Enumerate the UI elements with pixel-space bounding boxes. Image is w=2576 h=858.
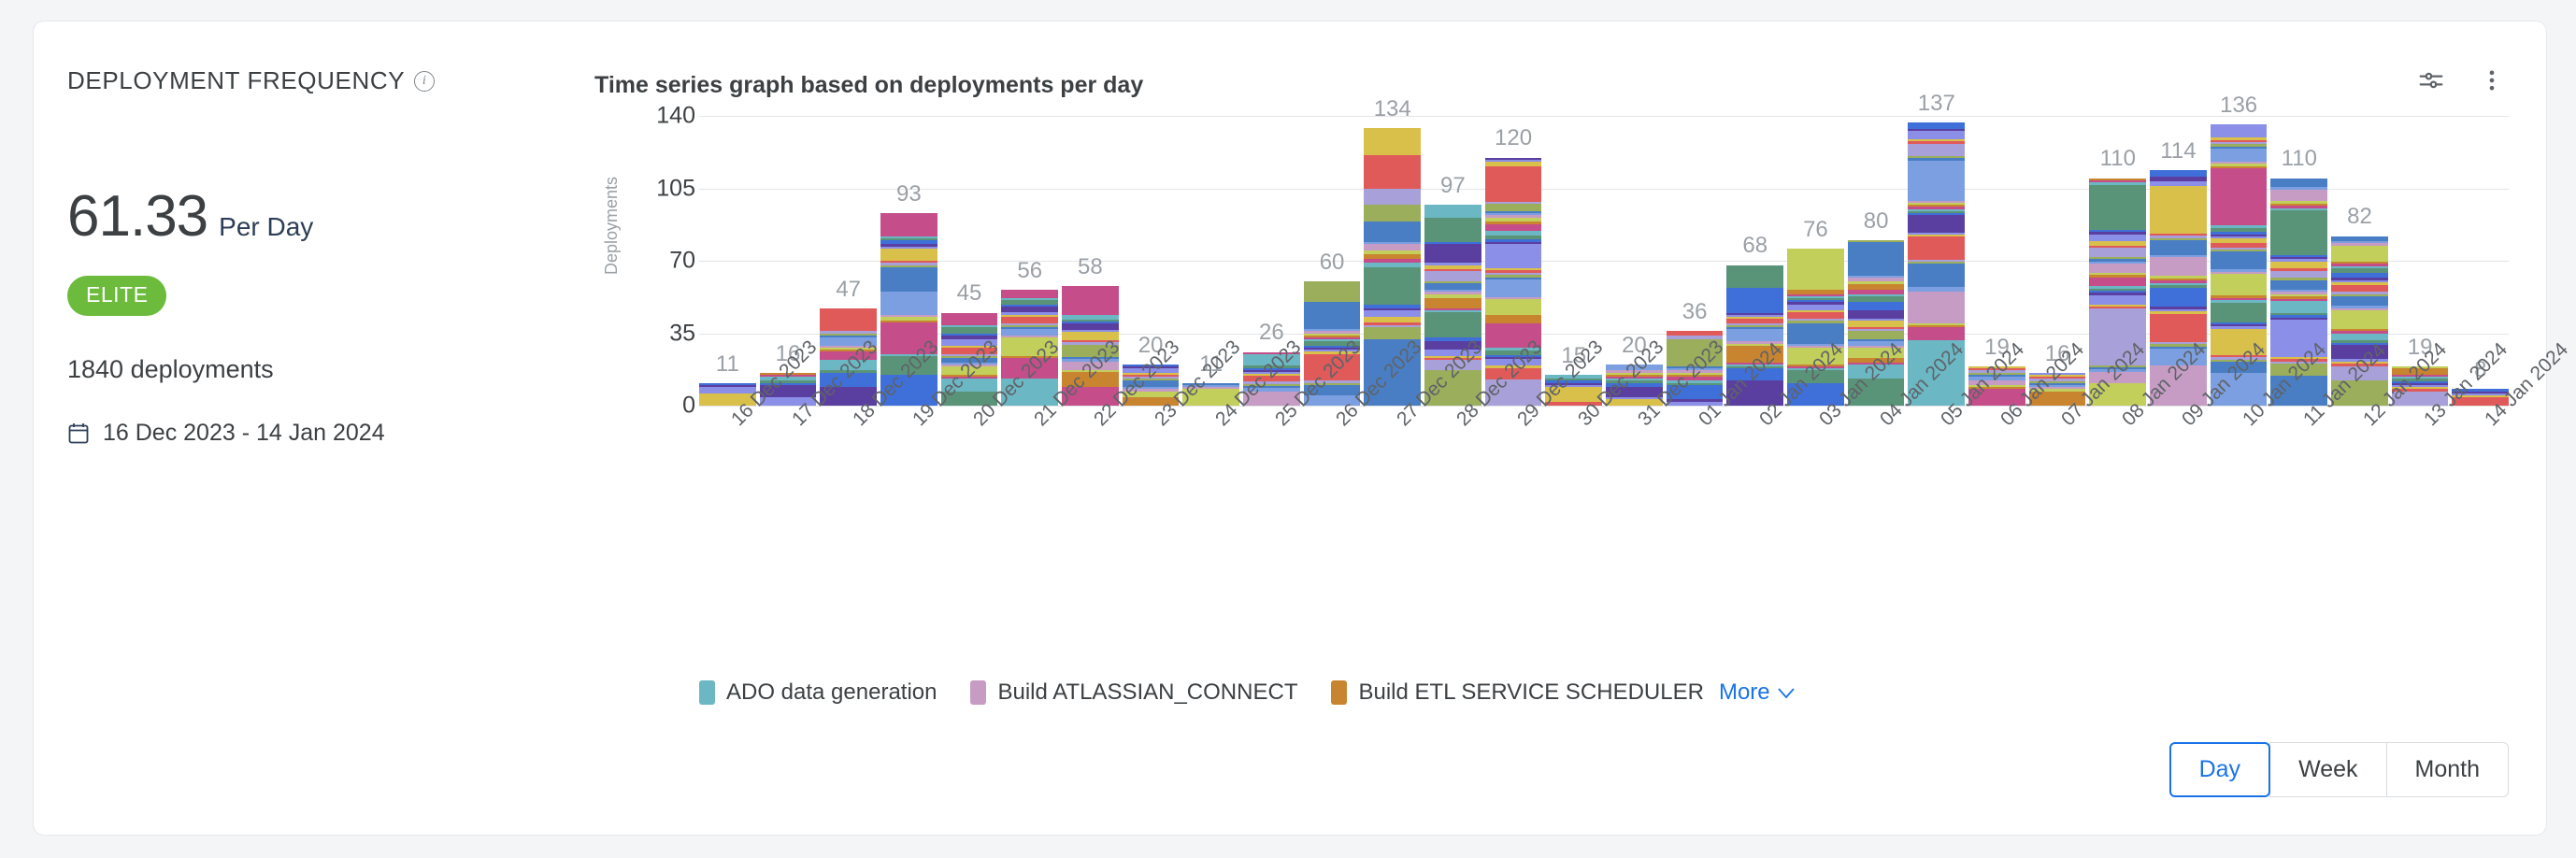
legend-more-label: More	[1719, 679, 1770, 706]
bar-segment	[2270, 301, 2327, 312]
bar-segment	[2150, 170, 2207, 178]
bar-segment	[1908, 327, 1965, 340]
legend-label: ADO data generation	[726, 679, 937, 706]
bar-segment	[1364, 128, 1421, 155]
metric-row: 61.33 Per Day	[67, 183, 594, 250]
bar-segment	[1001, 329, 1058, 336]
bar-value-label: 11	[699, 351, 756, 378]
x-axis-tick: 01 Jan 2024	[1667, 408, 1724, 548]
x-axis-tick: 12 Jan 2024	[2331, 408, 2388, 548]
bar-segment	[1485, 279, 1542, 297]
bar-segment	[2211, 168, 2268, 225]
bar-value-label: 68	[1726, 233, 1783, 259]
bar-segment	[1001, 290, 1058, 298]
bar-segment	[1364, 244, 1421, 250]
bar-segment	[2150, 240, 2207, 254]
bar-segment	[1485, 166, 1542, 202]
bar-segment	[880, 213, 937, 236]
bar-segment	[1364, 205, 1421, 222]
bar-value-label: 134	[1364, 96, 1421, 122]
metric-unit: Per Day	[219, 212, 313, 242]
bar-value-label: 114	[2150, 138, 2207, 164]
calendar-icon	[67, 422, 90, 445]
legend-label: Build ETL SERVICE SCHEDULER	[1358, 679, 1703, 706]
bar-segment	[699, 387, 756, 393]
deployment-frequency-card: DEPLOYMENT FREQUENCY i 61.33 Per Day ELI…	[33, 21, 2547, 836]
chart-panel: Time series graph based on deployments p…	[594, 21, 2546, 835]
bar-segment	[1485, 244, 1542, 268]
bar-value-label: 93	[880, 181, 937, 207]
bar-segment	[2089, 185, 2146, 230]
legend-item[interactable]: ADO data generation	[699, 679, 937, 706]
status-badge: ELITE	[67, 276, 166, 316]
chart-legend: ADO data generationBuild ATLASSIAN_CONNE…	[699, 679, 1796, 706]
bar-segment	[1424, 312, 1481, 337]
panel-title-text: DEPLOYMENT FREQUENCY	[67, 66, 405, 95]
bar-segment	[1485, 299, 1542, 315]
legend-swatch	[699, 680, 715, 705]
kebab-menu-icon[interactable]	[2479, 66, 2505, 99]
bar-segment	[1726, 288, 1783, 313]
bar-segment	[880, 249, 937, 261]
bar-segment	[1848, 302, 1905, 310]
bar-segment	[2150, 288, 2207, 307]
legend-swatch	[970, 680, 986, 705]
bar-segment	[1001, 307, 1058, 313]
bar-segment	[2211, 303, 2268, 322]
bar-segment	[2211, 124, 2268, 137]
x-axis-tick: 10 Jan 2024	[2211, 408, 2268, 548]
x-axis-tick: 29 Dec 2023	[1485, 408, 1542, 548]
x-axis-tick: 28 Dec 2023	[1424, 408, 1481, 548]
bar-segment	[2331, 246, 2388, 262]
bar-value-label: 110	[2270, 146, 2327, 172]
bar-value-label: 110	[2089, 146, 2146, 172]
bar-segment	[941, 313, 998, 325]
bar-segment	[2089, 278, 2146, 287]
bar-value-label: 60	[1304, 250, 1361, 276]
granularity-option-month[interactable]: Month	[2386, 742, 2509, 797]
bar-segment	[1001, 317, 1058, 323]
bar-segment	[2270, 210, 2327, 254]
bar-segment	[1908, 161, 1965, 201]
bar-segment	[2089, 248, 2146, 257]
info-icon[interactable]: i	[414, 71, 435, 92]
bar-segment	[820, 308, 877, 331]
bar-segment	[880, 267, 937, 293]
bar-segment	[1787, 323, 1844, 344]
header-icon-group	[2417, 66, 2509, 99]
bar-segment	[1485, 204, 1542, 210]
bar-segment	[1062, 286, 1119, 316]
bar-segment	[1908, 264, 1965, 287]
legend-item[interactable]: Build ATLASSIAN_CONNECT	[970, 679, 1297, 706]
legend-label: Build ATLASSIAN_CONNECT	[997, 679, 1297, 706]
bar-segment	[2089, 295, 2146, 305]
summary-panel: DEPLOYMENT FREQUENCY i 61.33 Per Day ELI…	[34, 21, 594, 835]
y-axis-tick: 70	[669, 248, 695, 275]
bar-segment	[1908, 131, 1965, 139]
date-range-text: 16 Dec 2023 - 14 Jan 2024	[103, 420, 385, 447]
bar-value-label: 120	[1485, 125, 1542, 151]
bar-column[interactable]: 11	[699, 116, 756, 406]
bar-segment	[2331, 296, 2388, 306]
bar-segment	[2150, 257, 2207, 276]
bar-segment	[1908, 215, 1965, 232]
settings-sliders-icon[interactable]	[2417, 66, 2445, 99]
x-axis-tick: 21 Dec 2023	[1001, 408, 1058, 548]
bar-segment	[1848, 284, 1905, 291]
x-axis-tick: 19 Dec 2023	[880, 408, 937, 548]
x-axis-tick: 09 Jan 2024	[2150, 408, 2207, 548]
bar-segment	[1787, 249, 1844, 290]
bar-segment	[1424, 205, 1481, 217]
y-axis-tick: 105	[656, 175, 695, 202]
y-axis-tick: 0	[682, 393, 695, 420]
bar-value-label: 137	[1908, 91, 1965, 117]
legend-item[interactable]: Build ETL SERVICE SCHEDULER	[1331, 679, 1703, 706]
x-axis-tick: 25 Dec 2023	[1243, 408, 1300, 548]
y-axis-ticks: 03570105140	[613, 116, 695, 406]
bar-value-label: 97	[1424, 173, 1481, 199]
x-axis-tick: 06 Jan 2024	[1968, 408, 2025, 548]
x-axis-tick: 05 Jan 2024	[1908, 408, 1965, 548]
bar-value-label: 80	[1848, 208, 1905, 235]
y-axis-tick: 140	[656, 103, 695, 130]
chart-title: Time series graph based on deployments p…	[594, 66, 1143, 99]
bar-segment	[1848, 331, 1905, 339]
x-axis-tick: 04 Jan 2024	[1848, 408, 1905, 548]
bar-segment	[941, 327, 998, 334]
bar-segment	[1304, 281, 1361, 302]
bar-segment	[1424, 283, 1481, 290]
bar-segment	[2211, 274, 2268, 296]
bar-segment	[1364, 317, 1421, 323]
bar-segment	[1424, 298, 1481, 308]
metric-value: 61.33	[67, 183, 208, 250]
date-range-row: 16 Dec 2023 - 14 Jan 2024	[67, 420, 594, 447]
bar-segment	[2331, 310, 2388, 329]
bar-segment	[1848, 242, 1905, 275]
bar-segment	[1485, 224, 1542, 231]
x-axis-tick: 24 Dec 2023	[1182, 408, 1239, 548]
x-axis-tick: 27 Dec 2023	[1364, 408, 1421, 548]
bar-segment	[2150, 186, 2207, 233]
x-axis-tick: 18 Dec 2023	[820, 408, 877, 548]
bar-segment	[1485, 315, 1542, 323]
bar-segment	[1364, 189, 1421, 206]
panel-title: DEPLOYMENT FREQUENCY i	[67, 66, 594, 95]
deployments-count: 1840 deployments	[67, 355, 594, 384]
bar-segment	[1848, 321, 1905, 327]
x-axis-tick: 16 Dec 2023	[699, 408, 756, 548]
bar-segment	[1908, 236, 1965, 260]
granularity-toggle: DayWeekMonth	[2169, 742, 2509, 797]
x-axis-tick: 03 Jan 2024	[1787, 408, 1844, 548]
bar-value-label: 45	[941, 280, 998, 307]
bar-value-label: 82	[2331, 204, 2388, 230]
bar-segment	[1908, 292, 1965, 323]
bar-value-label: 47	[820, 277, 877, 303]
plot-area: Deployments 03570105140 1116479345565820…	[594, 116, 2509, 555]
bar-segment	[1908, 122, 1965, 129]
bar-segment	[2150, 314, 2207, 342]
x-axis-tick: 30 Dec 2023	[1545, 408, 1602, 548]
bar-segment	[2270, 271, 2327, 278]
x-axis-tick: 02 Jan 2024	[1726, 408, 1783, 548]
x-axis-tick: 08 Jan 2024	[2089, 408, 2146, 548]
bar-segment	[1908, 144, 1965, 157]
x-axis-ticks: 16 Dec 202317 Dec 202318 Dec 202319 Dec …	[699, 408, 2509, 548]
x-axis-tick: 07 Jan 2024	[2029, 408, 2086, 548]
y-axis-tick: 35	[669, 320, 695, 347]
bar-segment	[2211, 251, 2268, 269]
bar-segment	[880, 292, 937, 314]
bar-segment	[1726, 329, 1783, 341]
bar-value-label: 58	[1062, 254, 1119, 280]
bar-segment	[2270, 179, 2327, 188]
x-axis-tick: 26 Dec 2023	[1304, 408, 1361, 548]
bar-segment	[1726, 265, 1783, 288]
bar-segment	[1364, 267, 1421, 305]
x-axis-tick: 31 Dec 2023	[1606, 408, 1663, 548]
bar-segment	[1364, 155, 1421, 188]
bar-segment	[1364, 222, 1421, 242]
bar-segment	[2270, 280, 2327, 290]
granularity-option-week[interactable]: Week	[2269, 742, 2386, 797]
bar-segment	[1424, 218, 1481, 243]
bar-segment	[2331, 334, 2388, 340]
bar-segment	[2089, 264, 2146, 273]
chevron-down-icon	[1777, 679, 1796, 706]
bar-segment	[1062, 323, 1119, 330]
legend-more-link[interactable]: More	[1719, 679, 1796, 706]
bar-segment	[2089, 235, 2146, 241]
bar-segment	[1304, 302, 1361, 329]
x-axis-tick: 11 Jan 2024	[2270, 408, 2327, 548]
bar-segment	[1848, 310, 1905, 319]
bar-segment	[1787, 312, 1844, 319]
bar-segment	[2211, 149, 2268, 162]
bar-value-label: 76	[1787, 217, 1844, 243]
bar-value-label: 56	[1001, 258, 1058, 284]
bar-segment	[2270, 262, 2327, 268]
x-axis-tick: 20 Dec 2023	[941, 408, 998, 548]
x-axis-tick: 14 Jan 2024	[2452, 408, 2509, 548]
x-axis-tick: 23 Dec 2023	[1123, 408, 1180, 548]
bar-value-label: 136	[2211, 93, 2268, 119]
bar-segment	[1787, 305, 1844, 311]
legend-swatch	[1331, 680, 1347, 705]
granularity-option-day[interactable]: Day	[2169, 742, 2270, 797]
x-axis-tick: 22 Dec 2023	[1062, 408, 1119, 548]
x-axis-tick: 13 Jan 2024	[2392, 408, 2449, 548]
bar-segment	[1848, 296, 1905, 303]
bar-segment	[1424, 271, 1481, 281]
bar-segment	[1424, 244, 1481, 263]
x-axis-tick: 17 Dec 2023	[760, 408, 817, 548]
bar-value-label: 36	[1667, 299, 1724, 325]
bar-segment	[1364, 310, 1421, 317]
bar-segment	[2331, 285, 2388, 292]
bar-segment	[2270, 190, 2327, 201]
